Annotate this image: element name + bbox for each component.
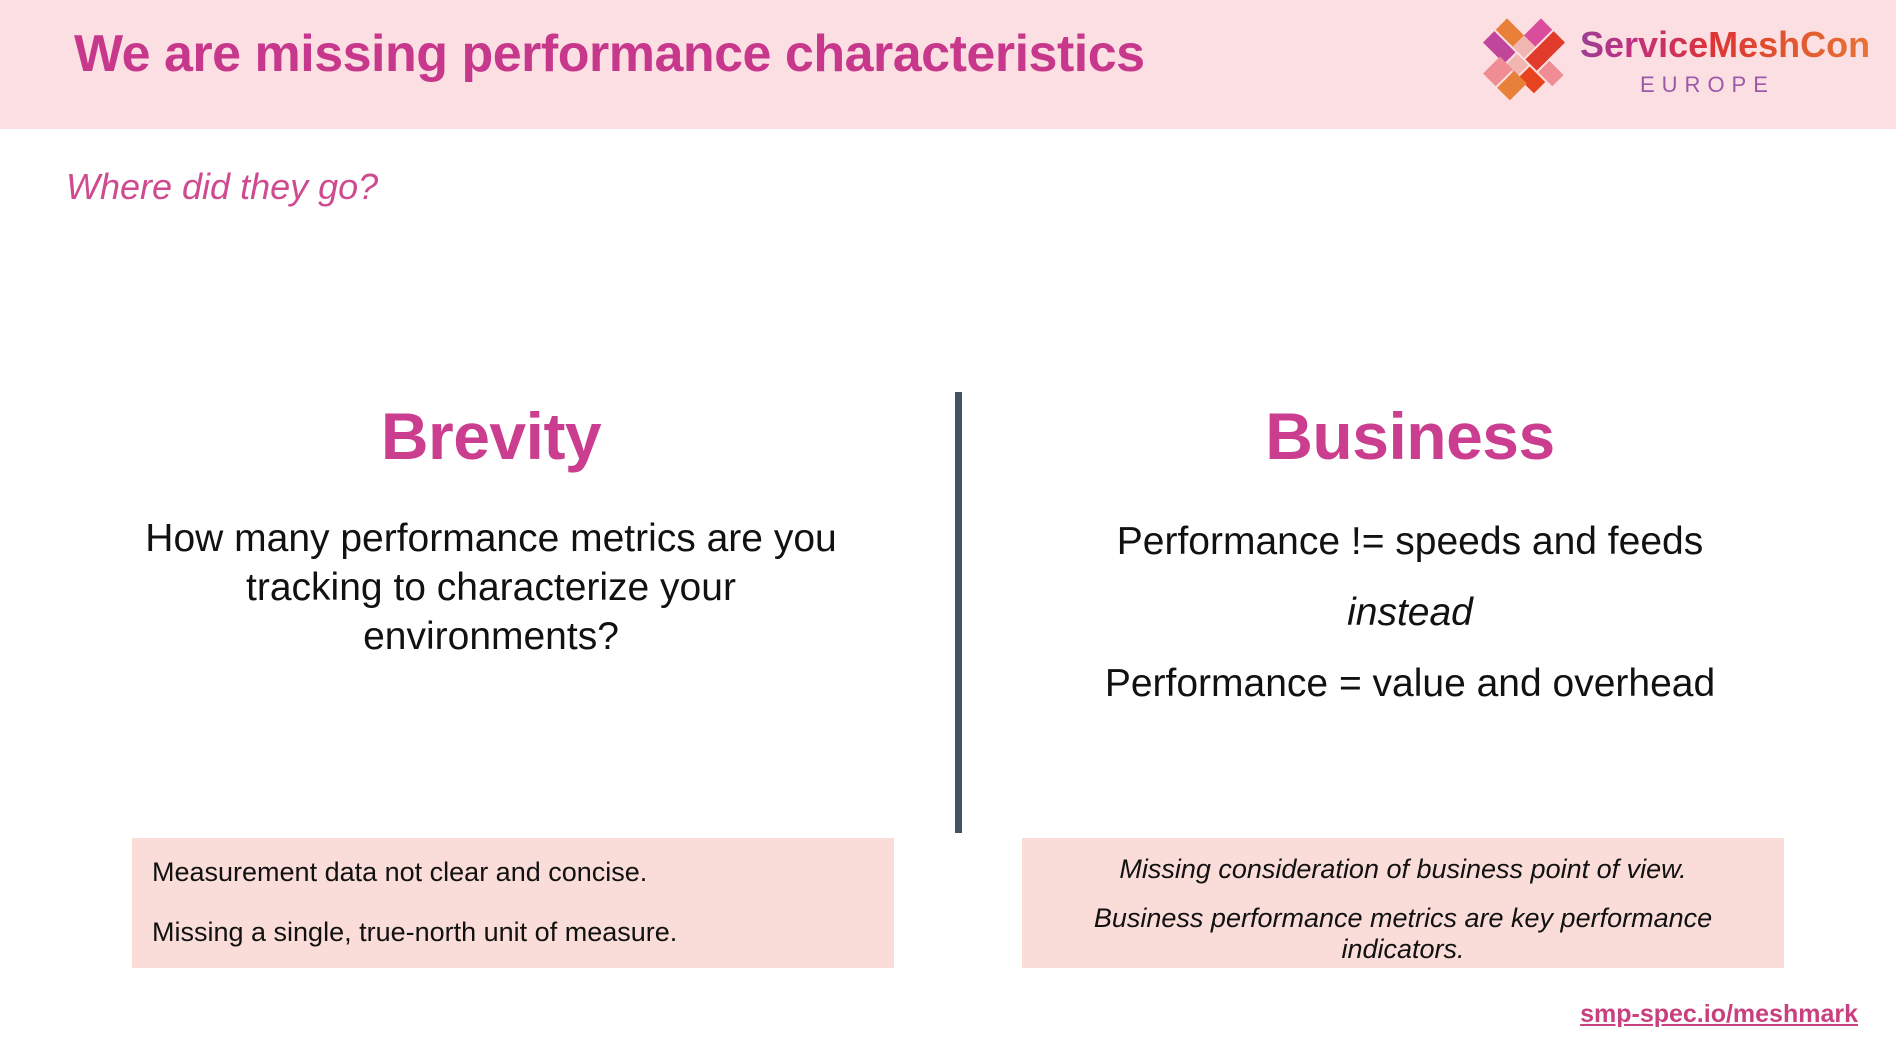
column-body-business: Performance != speeds and feeds instead …: [1000, 518, 1820, 730]
logo-wordmark: ServiceMeshCon: [1580, 24, 1870, 66]
page-title: We are missing performance characteristi…: [74, 24, 1145, 84]
column-divider: [955, 392, 962, 833]
header-band: We are missing performance characteristi…: [0, 0, 1896, 129]
callout-line: Missing consideration of business point …: [1050, 854, 1756, 885]
slide-subtitle: Where did they go?: [66, 166, 378, 208]
callout-box-brevity: Measurement data not clear and concise. …: [132, 838, 894, 968]
column-heading-business: Business: [1000, 398, 1820, 474]
business-line-1: Performance != speeds and feeds: [1000, 518, 1820, 567]
callout-line: Measurement data not clear and concise.: [152, 858, 874, 888]
footer-spec-link[interactable]: smp-spec.io/meshmark: [1580, 1000, 1858, 1029]
callout-line: Business performance metrics are key per…: [1050, 903, 1756, 965]
callout-line: Missing a single, true-north unit of mea…: [152, 918, 874, 948]
column-heading-brevity: Brevity: [96, 398, 886, 474]
servicemeshcon-logo: ServiceMeshCon EUROPE: [1478, 6, 1878, 118]
logo-region-label: EUROPE: [1640, 72, 1775, 98]
servicemeshcon-diamond-mark: [1478, 12, 1570, 104]
callout-box-business: Missing consideration of business point …: [1022, 838, 1784, 968]
business-line-instead: instead: [1000, 589, 1820, 638]
business-line-3: Performance = value and overhead: [1000, 660, 1820, 709]
column-body-brevity: How many performance metrics are you tra…: [96, 515, 886, 661]
